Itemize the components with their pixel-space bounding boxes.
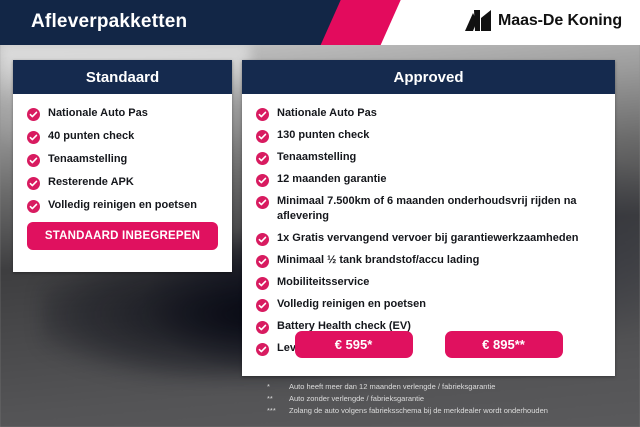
list-item: Minimaal ½ tank brandstof/accu lading [256,253,601,268]
list-item: Volledig reinigen en poetsen [27,198,218,213]
check-circle-icon [27,154,40,167]
check-circle-icon [256,277,269,290]
feature-list-approved: Nationale Auto Pas 130 punten check Tena… [256,106,601,356]
page-header: Afleverpakketten Maas-De Koning [0,0,640,45]
list-item: Tenaamstelling [256,150,601,165]
price-button-row: € 595* € 895** [242,331,615,358]
check-circle-icon [256,255,269,268]
feature-label: Nationale Auto Pas [277,106,377,121]
list-item: 130 punten check [256,128,601,143]
list-item: Nationale Auto Pas [27,106,218,121]
brand-lockup: Maas-De Koning [465,10,622,32]
feature-label: Nationale Auto Pas [48,106,148,120]
check-circle-icon [27,177,40,190]
feature-label: Mobiliteitsservice [277,275,369,290]
maas-de-koning-logo-icon [465,10,491,32]
feature-label: 1x Gratis vervangend vervoer bij garanti… [277,231,578,246]
list-item: Minimaal 7.500km of 6 maanden onderhouds… [256,194,601,224]
promo-screen: Afleverpakketten Maas-De Koning Standaar… [0,0,640,427]
card-title-approved: Approved [242,60,615,94]
check-circle-icon [27,200,40,213]
check-circle-icon [256,130,269,143]
footnotes: * Auto heeft meer dan 12 maanden verleng… [267,381,617,417]
list-item: 1x Gratis vervangend vervoer bij garanti… [256,231,601,246]
footnote-row: * Auto heeft meer dan 12 maanden verleng… [267,381,617,392]
price-button-595[interactable]: € 595* [295,331,413,358]
list-item: Tenaamstelling [27,152,218,167]
feature-label: Volledig reinigen en poetsen [277,297,426,312]
package-card-approved: Approved Nationale Auto Pas 130 punten c… [242,60,615,376]
check-circle-icon [256,174,269,187]
footnote-text: Zolang de auto volgens fabrieksschema bi… [289,405,548,416]
footnote-row: *** Zolang de auto volgens fabrieksschem… [267,405,617,416]
feature-list-standaard: Nationale Auto Pas 40 punten check Tenaa… [27,106,218,213]
list-item: Mobiliteitsservice [256,275,601,290]
feature-label: Resterende APK [48,175,134,189]
standaard-inbegrepen-button[interactable]: STANDAARD INBEGREPEN [27,222,218,250]
feature-label: 130 punten check [277,128,369,143]
check-circle-icon [256,108,269,121]
feature-label: 12 maanden garantie [277,172,386,187]
feature-label: Volledig reinigen en poetsen [48,198,197,212]
brand-name: Maas-De Koning [498,12,622,30]
check-circle-icon [256,196,269,209]
list-item: Nationale Auto Pas [256,106,601,121]
check-circle-icon [27,131,40,144]
footnote-marker: * [267,381,289,392]
package-card-standaard: Standaard Nationale Auto Pas 40 punten c… [13,60,232,272]
feature-label: Tenaamstelling [277,150,356,165]
card-title-standaard: Standaard [13,60,232,94]
footnote-row: ** Auto zonder verlengde / fabrieksgaran… [267,393,617,404]
list-item: 40 punten check [27,129,218,144]
check-circle-icon [27,108,40,121]
list-item: 12 maanden garantie [256,172,601,187]
card-body-approved: Nationale Auto Pas 130 punten check Tena… [242,94,615,356]
page-title: Afleverpakketten [31,11,187,33]
footnote-marker: *** [267,405,289,416]
feature-label: Minimaal 7.500km of 6 maanden onderhouds… [277,194,601,224]
check-circle-icon [256,299,269,312]
price-button-895[interactable]: € 895** [445,331,563,358]
feature-label: Tenaamstelling [48,152,127,166]
list-item: Volledig reinigen en poetsen [256,297,601,312]
feature-label: 40 punten check [48,129,134,143]
check-circle-icon [256,233,269,246]
card-body-standaard: Nationale Auto Pas 40 punten check Tenaa… [13,94,232,213]
footnote-text: Auto zonder verlengde / fabrieksgarantie [289,393,424,404]
check-circle-icon [256,152,269,165]
feature-label: Minimaal ½ tank brandstof/accu lading [277,253,479,268]
list-item: Resterende APK [27,175,218,190]
footnote-text: Auto heeft meer dan 12 maanden verlengde… [289,381,495,392]
footnote-marker: ** [267,393,289,404]
